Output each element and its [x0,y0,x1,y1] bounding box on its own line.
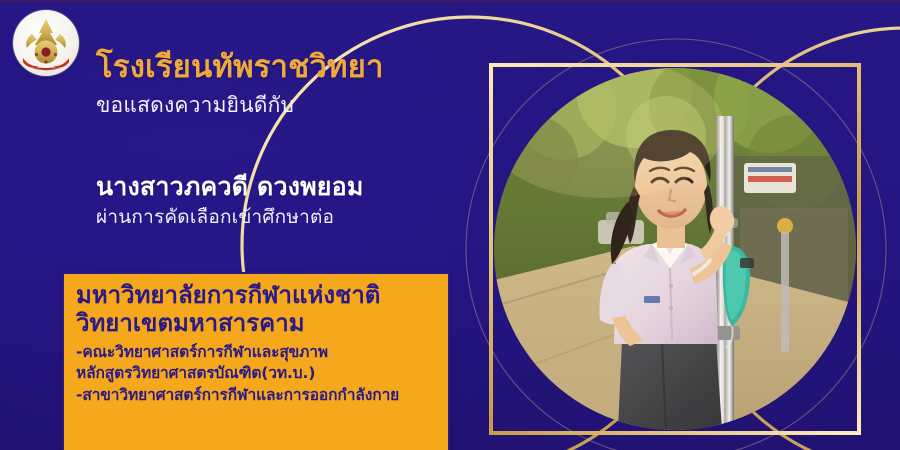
student-block: นางสาวภควดี ดวงพยอม ผ่านการคัดเลือกเข้าศ… [96,172,526,230]
school-logo [13,10,79,76]
university-major-line: -สาขาวิทยาศาสตร์การกีฬาและการออกกำลังกาย [76,385,438,406]
student-name: นางสาวภควดี ดวงพยอม [96,172,526,202]
student-status-line: ผ่านการคัดเลือกเข้าศึกษาต่อ [96,205,526,230]
poster-header: โรงเรียนทัพราชวิทยา ขอแสดงความยินดีกับ [96,50,516,119]
university-faculty-line: -คณะวิทยาศาสตร์การกีฬาและสุขภาพ [76,342,438,363]
congratulation-poster: โรงเรียนทัพราชวิทยา ขอแสดงความยินดีกับ น… [0,0,900,450]
university-name-line2: วิทยาเขตมหาสารคาม [76,310,438,338]
university-panel: มหาวิทยาลัยการกีฬาแห่งชาติ วิทยาเขตมหาสา… [62,272,450,450]
school-emblem-icon [13,10,79,76]
student-photo [489,63,861,435]
school-name: โรงเรียนทัพราชวิทยา [96,50,516,85]
university-program-line: หลักสูตรวิทยาศาสตรบัณฑิต(วท.บ.) [76,363,438,384]
congratulation-line: ขอแสดงความยินดีกับ [96,92,516,119]
university-name-line1: มหาวิทยาลัยการกีฬาแห่งชาติ [76,282,438,310]
background-top-tint [0,0,900,6]
